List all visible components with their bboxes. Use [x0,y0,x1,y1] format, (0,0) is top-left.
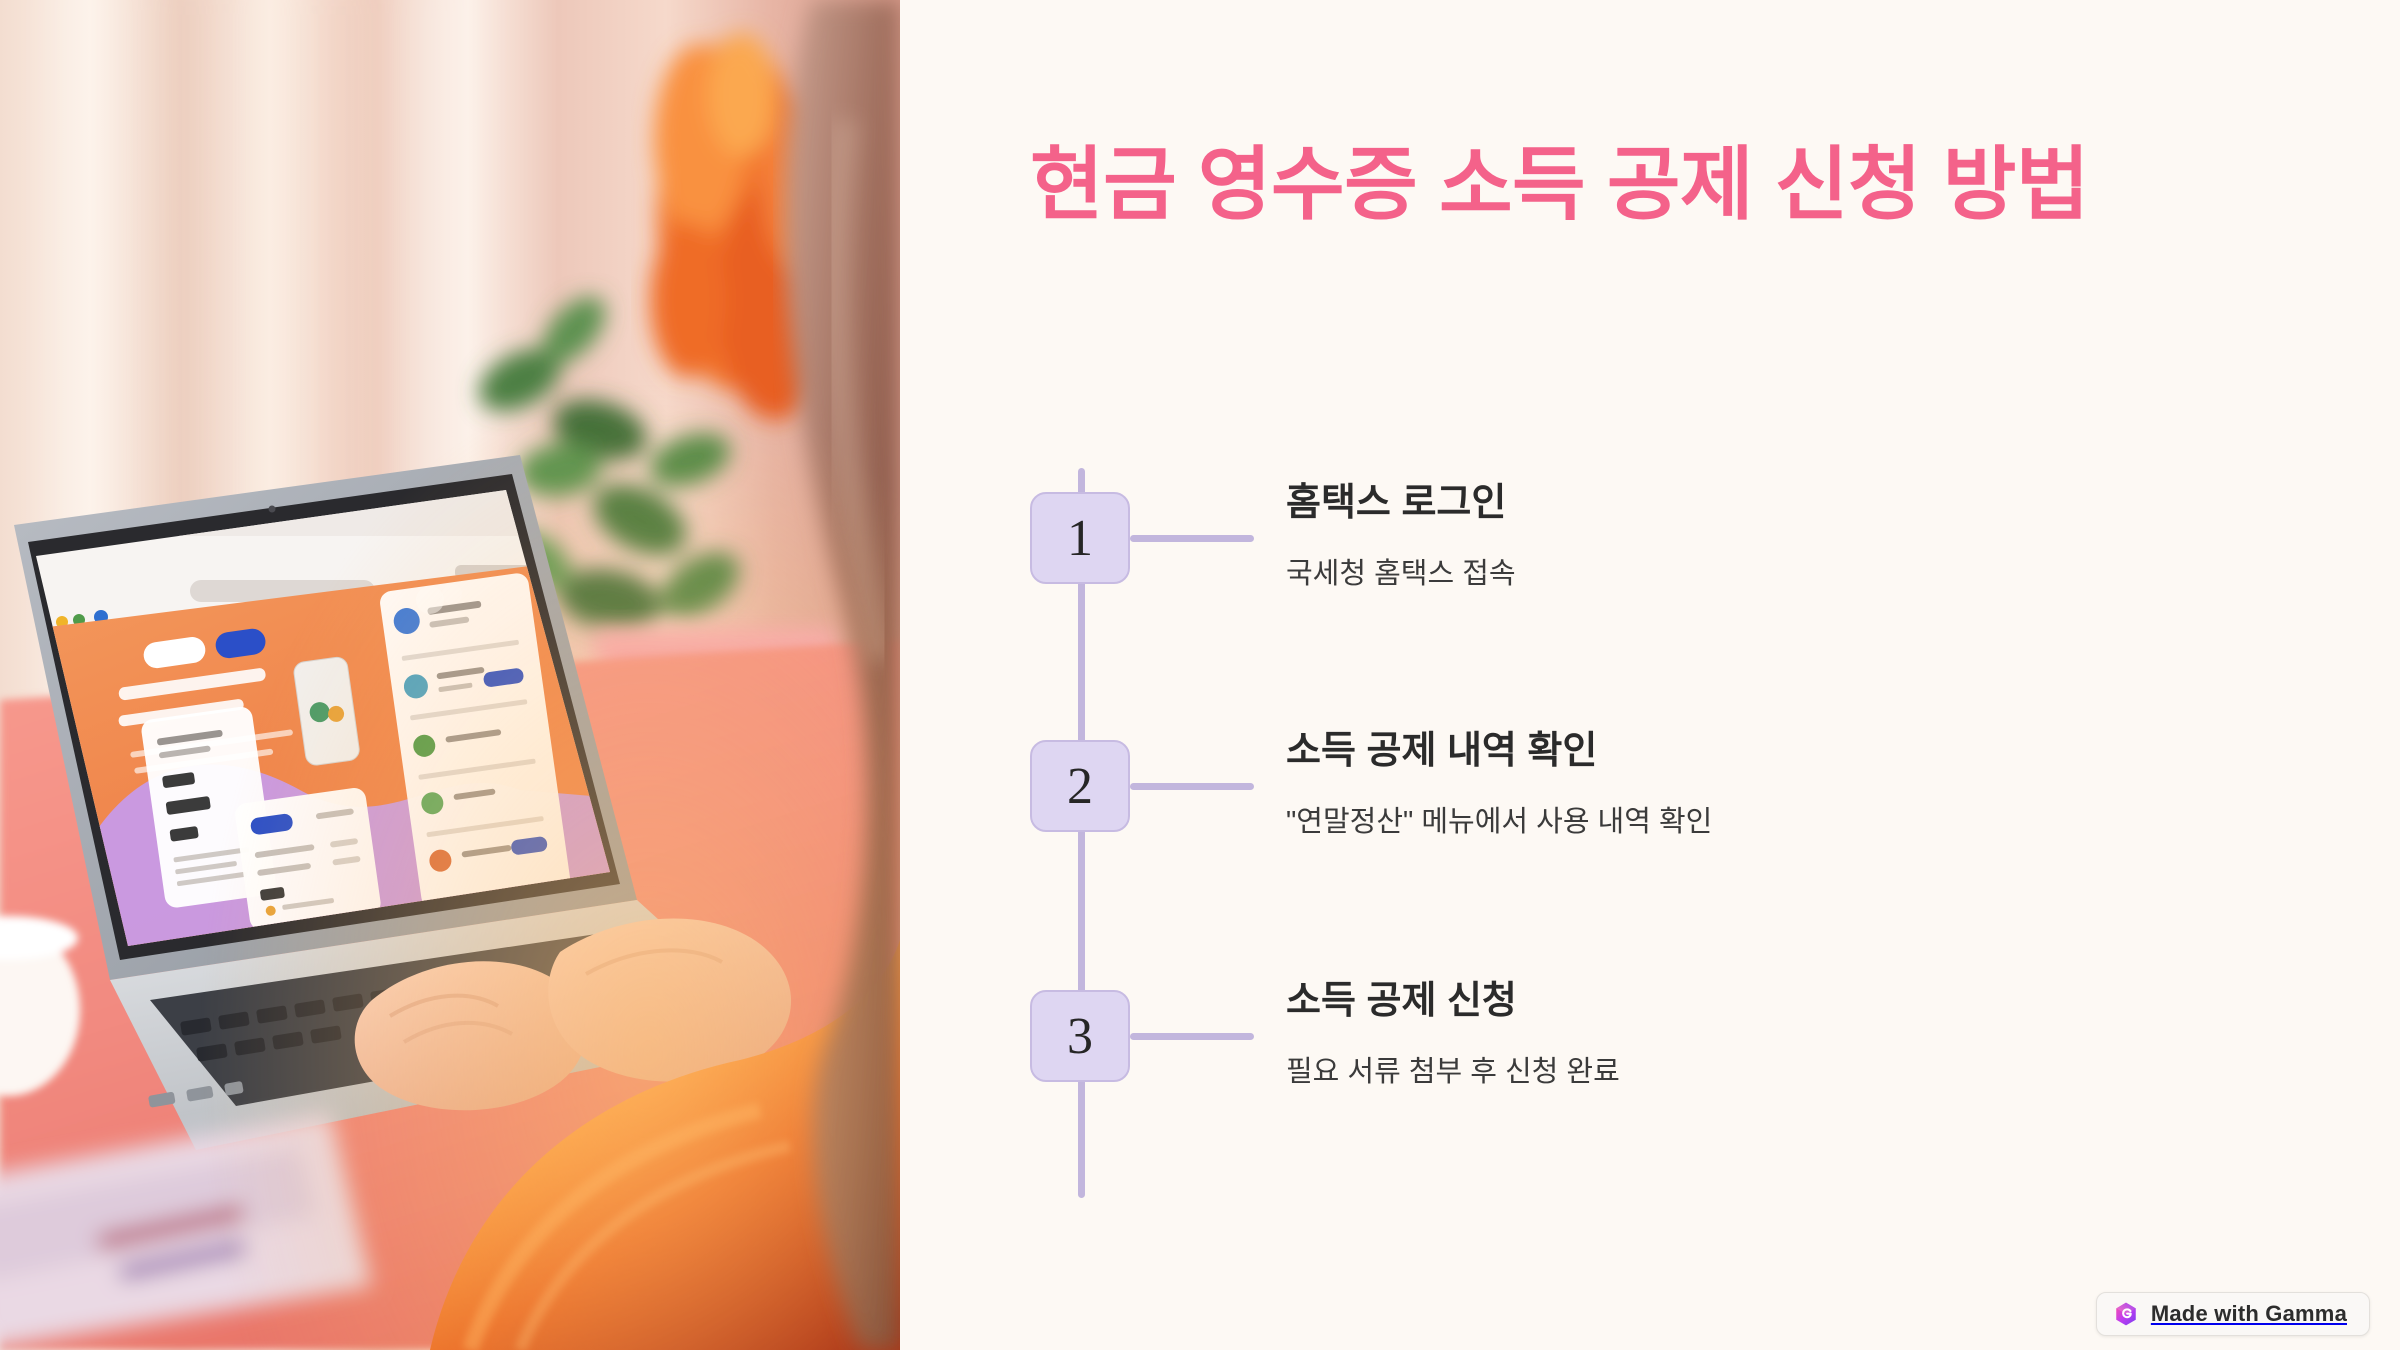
step-body: 소득 공제 신청 필요 서류 첨부 후 신청 완료 [1286,978,2386,1092]
step-description: 국세청 홈택스 접속 [1286,554,2386,595]
step-number-badge: 2 [1030,740,1130,832]
step-body: 소득 공제 내역 확인 "연말정산" 메뉴에서 사용 내역 확인 [1286,728,2386,842]
step-title: 소득 공제 내역 확인 [1286,728,2386,776]
laptop-photo [0,0,900,1350]
made-with-gamma-badge[interactable]: Made with Gamma [2096,1292,2370,1336]
step-number-badge: 3 [1030,990,1130,1082]
gamma-label: Made with Gamma [2151,1301,2347,1327]
steps-timeline: 1 홈택스 로그인 국세청 홈택스 접속 2 소득 공제 내역 확인 "연말정산… [1030,450,2400,1210]
step-description: "연말정산" 메뉴에서 사용 내역 확인 [1286,802,2386,843]
step-number-badge: 1 [1030,492,1130,584]
step-connector [1130,535,1254,542]
timeline-step: 2 소득 공제 내역 확인 "연말정산" 메뉴에서 사용 내역 확인 [1030,728,2400,888]
step-connector [1130,783,1254,790]
step-title: 홈택스 로그인 [1286,480,2386,528]
page-title: 현금 영수증 소득 공제 신청 방법 [1030,136,2220,234]
step-description: 필요 서류 첨부 후 신청 완료 [1286,1052,2386,1093]
slide-root: 현금 영수증 소득 공제 신청 방법 1 홈택스 로그인 국세청 홈택스 접속 … [0,0,2400,1350]
hero-photo [0,0,900,1350]
content-panel: 현금 영수증 소득 공제 신청 방법 1 홈택스 로그인 국세청 홈택스 접속 … [900,0,2400,1350]
step-connector [1130,1033,1254,1040]
gamma-logo-icon [2113,1301,2139,1327]
step-title: 소득 공제 신청 [1286,978,2386,1026]
timeline-step: 1 홈택스 로그인 국세청 홈택스 접속 [1030,480,2400,640]
timeline-step: 3 소득 공제 신청 필요 서류 첨부 후 신청 완료 [1030,978,2400,1138]
step-body: 홈택스 로그인 국세청 홈택스 접속 [1286,480,2386,594]
